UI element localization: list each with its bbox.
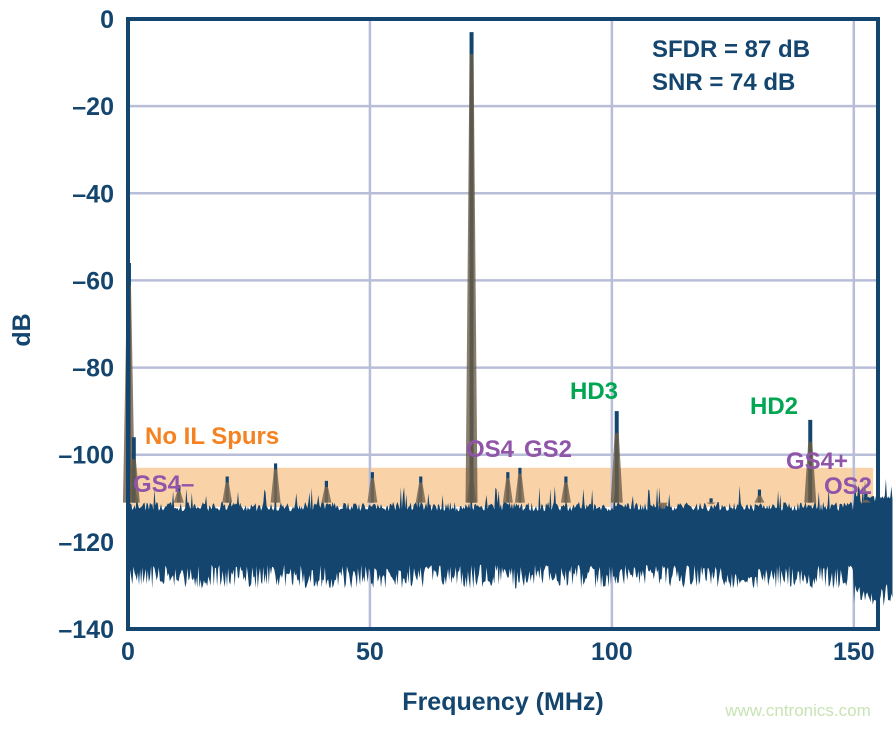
y-tick-label: –60: [72, 267, 114, 295]
x-tick-label: 50: [356, 638, 384, 666]
y-axis-title: dB: [8, 313, 36, 346]
watermark: www.cntronics.com: [724, 701, 870, 720]
x-tick-label: 150: [833, 638, 875, 666]
x-axis-title: Frequency (MHz): [402, 688, 603, 716]
y-axis-tick-labels: 0–20–40–60–80–100–120–140: [58, 6, 114, 644]
annotation-snr: SNR = 74 dB: [652, 69, 795, 96]
x-axis-tick-labels: 050100150: [121, 638, 875, 666]
annotation-sfdr: SFDR = 87 dB: [652, 36, 810, 63]
x-tick-label: 100: [591, 638, 633, 666]
y-tick-label: –80: [72, 355, 114, 383]
annotation-os4: OS4: [466, 436, 515, 463]
y-tick-label: –20: [72, 93, 114, 121]
spectrum-plot: 0–20–40–60–80–100–120–140 050100150 dB F…: [0, 0, 896, 729]
y-tick-label: –40: [72, 180, 114, 208]
y-tick-label: 0: [100, 6, 114, 34]
x-tick-label: 0: [121, 638, 135, 666]
annotation-gs4-minus: GS4–: [133, 471, 194, 498]
y-tick-label: –140: [58, 616, 114, 644]
annotation-gs4-plus: GS4+: [786, 448, 848, 475]
annotation-hd2: HD2: [750, 393, 798, 420]
annotation-os2: OS2: [824, 473, 872, 500]
y-tick-label: –120: [58, 529, 114, 557]
chart-figure: 0–20–40–60–80–100–120–140 050100150 dB F…: [0, 0, 896, 729]
annotation-gs2: GS2: [524, 436, 572, 463]
annotation-no-il-spurs: No IL Spurs: [145, 423, 279, 450]
spectrum-trace: [123, 32, 893, 606]
y-tick-label: –100: [58, 442, 114, 470]
annotation-hd3: HD3: [570, 378, 618, 405]
